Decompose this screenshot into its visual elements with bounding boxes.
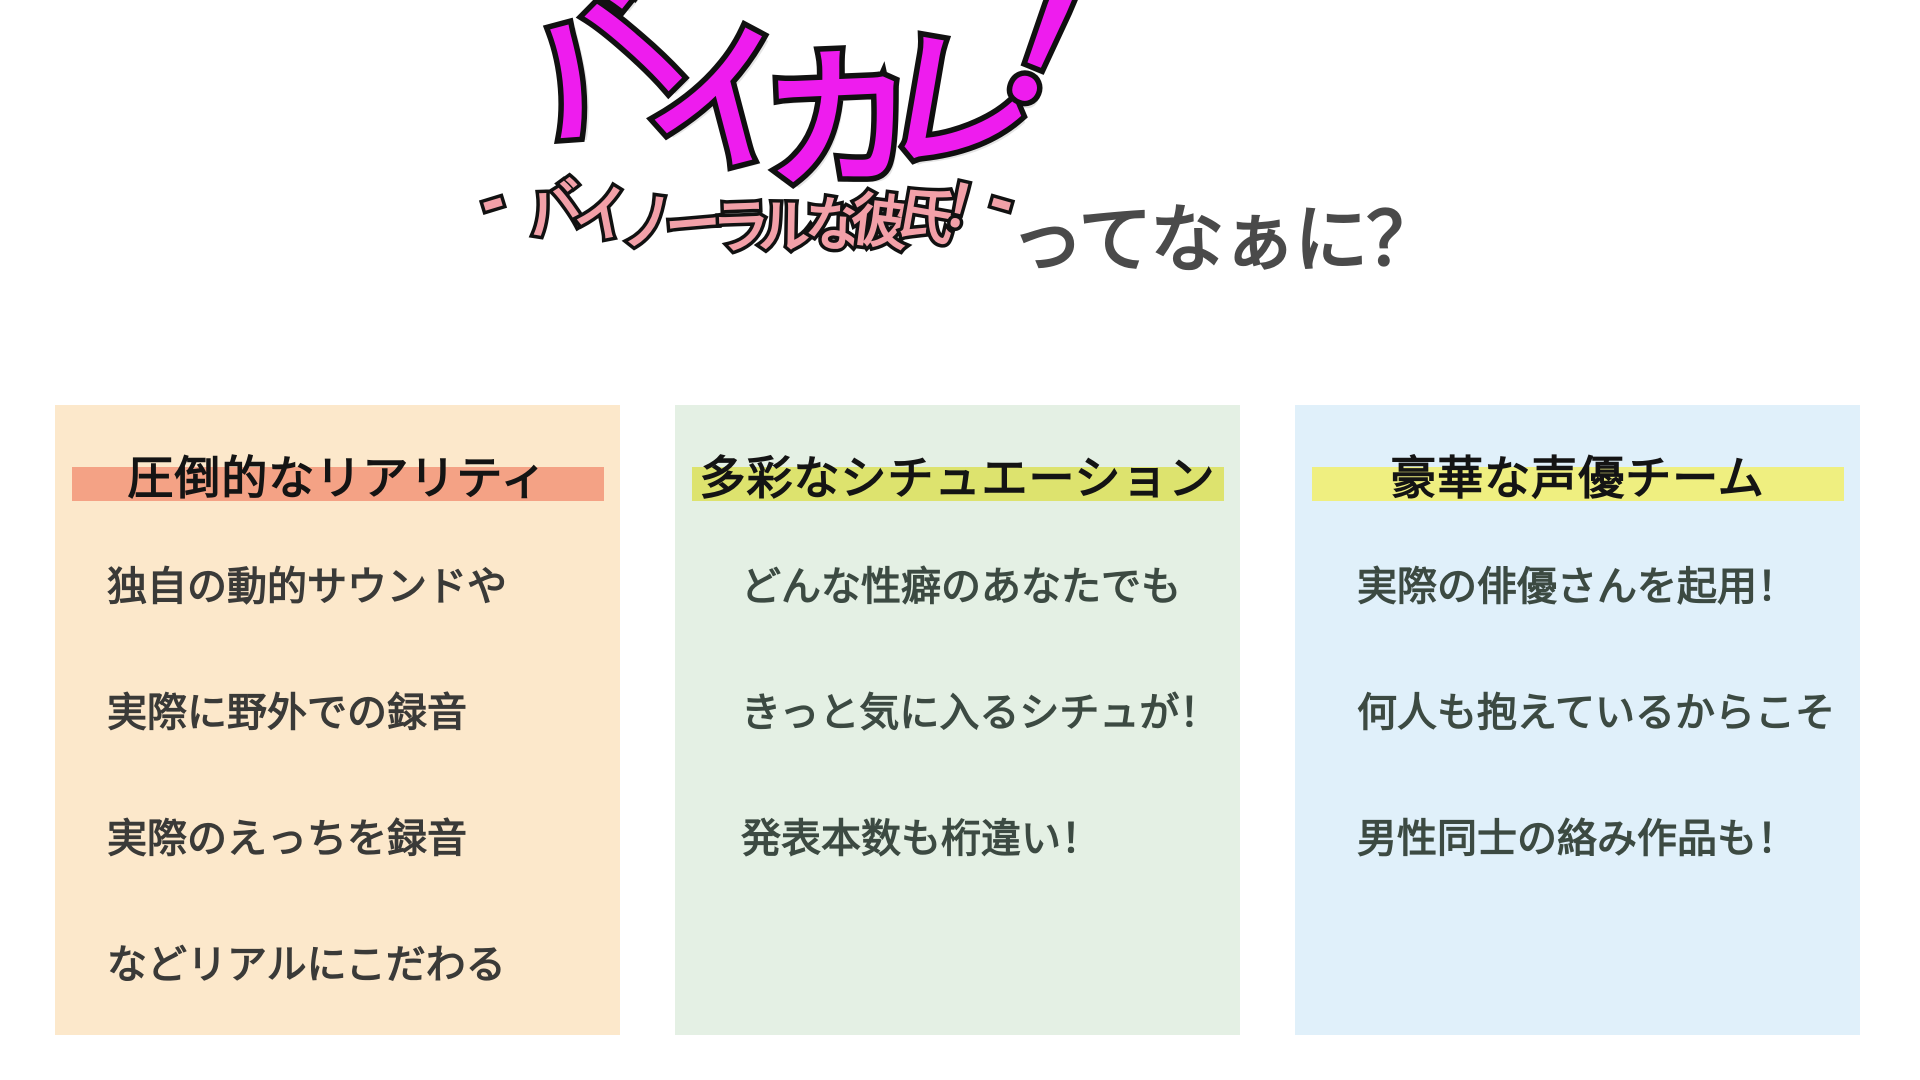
card-body-line: 独自の動的サウンドや <box>55 567 620 607</box>
feature-cards: 圧倒的なリアリティ 独自の動的サウンドや 実際に野外での録音 実際のえっちを録音… <box>0 405 1920 1045</box>
card-heading: 豪華な声優チーム <box>1390 455 1765 511</box>
card-header: 圧倒的なリアリティ <box>55 405 620 515</box>
card-body-line: などリアルにこだわる <box>55 945 620 985</box>
slide-canvas: バイカレ！ -バイノーラルな彼氏！- ってなぁに？ 圧倒的なリアリティ 独自の動… <box>0 0 1920 1080</box>
card-body: どんな性癖のあなたでも きっと気に入るシチュが！ 発表本数も桁違い！ <box>675 515 1240 859</box>
card-body: 実際の俳優さんを起用！ 何人も抱えているからこそ 男性同士の絡み作品も！ <box>1295 515 1860 859</box>
card-body-line: 実際に野外での録音 <box>55 693 620 733</box>
feature-card-reality: 圧倒的なリアリティ 独自の動的サウンドや 実際に野外での録音 実際のえっちを録音… <box>55 405 620 1035</box>
card-body-line: 何人も抱えているからこそ <box>1295 693 1860 733</box>
card-body-line: 実際のえっちを録音 <box>55 819 620 859</box>
card-heading: 多彩なシチュエーション <box>699 455 1215 511</box>
card-body-line: きっと気に入るシチュが！ <box>675 693 1240 733</box>
card-body-line: 発表本数も桁違い！ <box>675 819 1240 859</box>
title-block: バイカレ！ -バイノーラルな彼氏！- ってなぁに？ <box>0 0 1920 380</box>
card-heading: 圧倒的なリアリティ <box>127 455 547 511</box>
subtitle-char-0: - <box>472 170 512 233</box>
title-tail-question: ってなぁに？ <box>1010 180 1438 287</box>
card-body-line: どんな性癖のあなたでも <box>675 567 1240 607</box>
card-header: 多彩なシチュエーション <box>675 405 1240 515</box>
feature-card-situations: 多彩なシチュエーション どんな性癖のあなたでも きっと気に入るシチュが！ 発表本… <box>675 405 1240 1035</box>
feature-card-voice-team: 豪華な声優チーム 実際の俳優さんを起用！ 何人も抱えているからこそ 男性同士の絡… <box>1295 405 1860 1035</box>
card-body-line: 男性同士の絡み作品も！ <box>1295 819 1860 859</box>
card-body: 独自の動的サウンドや 実際に野外での録音 実際のえっちを録音 などリアルにこだわ… <box>55 515 620 985</box>
card-body-line: 実際の俳優さんを起用！ <box>1295 567 1860 607</box>
card-header: 豪華な声優チーム <box>1295 405 1860 515</box>
